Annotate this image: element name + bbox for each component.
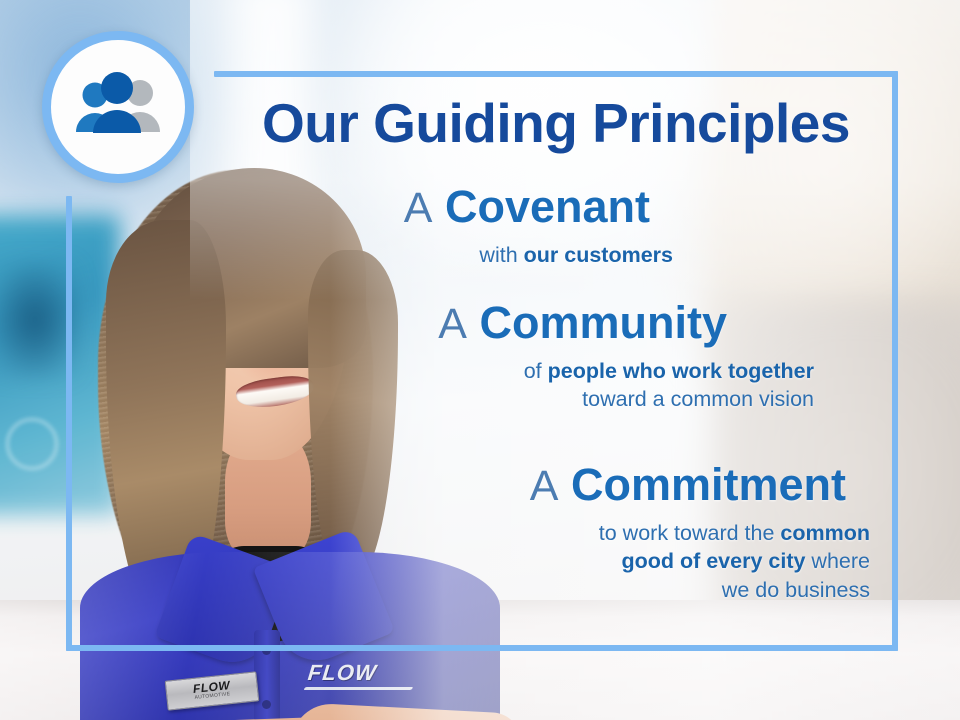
principle-word: Commitment — [571, 459, 846, 510]
principle-subtext-line: toward a common vision — [160, 385, 814, 413]
principle-subtext-line: of people who work together — [160, 357, 814, 385]
principle-word: Covenant — [445, 181, 650, 232]
people-group-badge — [42, 31, 194, 183]
principle-community: A Community of people who work togethert… — [160, 300, 860, 414]
principle-subtext: to work toward the commongood of every c… — [160, 519, 870, 604]
principle-subtext-line: with our customers — [200, 241, 673, 269]
page-title: Our Guiding Principles — [214, 96, 898, 151]
shirt-brand-logo: FLOW — [307, 660, 378, 686]
principle-article: A — [438, 300, 467, 348]
subtext-plain: we do business — [722, 578, 870, 602]
principle-subtext-line: we do business — [160, 576, 870, 604]
guiding-principles-graphic: FLOW FLOW AUTOMOTIVE — [0, 0, 960, 720]
principle-heading: A Community — [160, 300, 860, 346]
principle-heading: A Commitment — [160, 462, 870, 508]
principle-word: Community — [480, 297, 728, 348]
principle-article: A — [530, 462, 559, 510]
subtext-plain: of — [524, 359, 548, 383]
subtext-plain: to work toward the — [599, 521, 781, 545]
principle-article: A — [404, 184, 433, 232]
principle-heading: A Covenant — [200, 184, 860, 230]
subtext-emphasis: common — [780, 521, 870, 545]
subtext-emphasis: people who work together — [548, 359, 814, 383]
people-group-icon — [68, 72, 168, 142]
principle-subtext-line: good of every city where — [160, 547, 870, 575]
subtext-plain: toward a common vision — [582, 387, 814, 411]
principle-commitment: A Commitment to work toward the commongo… — [160, 462, 870, 604]
subtext-emphasis: our customers — [524, 243, 673, 267]
principle-subtext-line: to work toward the common — [160, 519, 870, 547]
principle-subtext: of people who work togethertoward a comm… — [160, 357, 860, 414]
subtext-plain: where — [805, 549, 870, 573]
principle-subtext: with our customers — [200, 241, 860, 269]
subtext-emphasis: good of every city — [621, 549, 805, 573]
subtext-plain: with — [479, 243, 523, 267]
principle-covenant: A Covenant with our customers — [200, 184, 860, 269]
